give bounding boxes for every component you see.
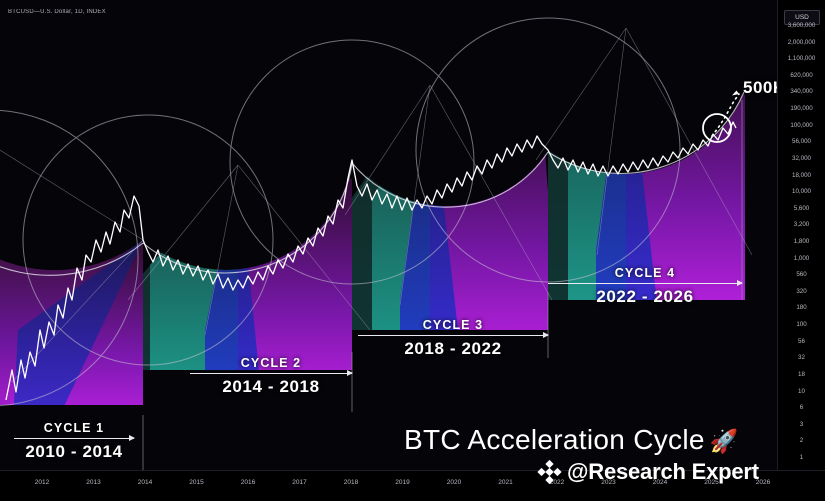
cycle-annotation-3: CYCLE 3 2018 - 2022: [358, 318, 548, 359]
cycle-annotation-4: CYCLE 4 2022 - 2026: [548, 266, 742, 307]
time-tick: 2021: [498, 479, 512, 486]
cycle-annotation-1: CYCLE 1 2010 - 2014: [14, 421, 134, 462]
cycle-3-label: CYCLE 3: [358, 318, 548, 332]
price-tick: 560: [778, 271, 825, 278]
price-tick: 32,000: [778, 155, 825, 162]
cycle-4-arrow: [548, 283, 742, 284]
price-tick: 10: [778, 388, 825, 395]
time-tick: 2016: [241, 479, 255, 486]
price-tick: 18: [778, 371, 825, 378]
chart-screenshot: BTCUSD—U.S. Dollar, 1D, INDEX 500K USD 3…: [0, 0, 825, 501]
watermark-handle: @Research Expert: [567, 459, 759, 485]
price-axis[interactable]: USD 3,600,0002,000,0001,100,000620,00034…: [777, 0, 825, 470]
price-tick: 100: [778, 321, 825, 328]
cycle-1-range: 2010 - 2014: [14, 442, 134, 462]
price-tick: 32: [778, 354, 825, 361]
price-tick: 1,800: [778, 238, 825, 245]
price-tick: 5,600: [778, 205, 825, 212]
cycle-1-arrow: [14, 438, 134, 439]
price-tick: 56: [778, 338, 825, 345]
price-tick: 320: [778, 288, 825, 295]
price-tick: 2: [778, 437, 825, 444]
price-tick: 190,000: [778, 105, 825, 112]
cycle-3-arrow: [358, 335, 548, 336]
chart-title: BTC Acceleration Cycle🚀: [404, 424, 739, 456]
chart-plot-area[interactable]: BTCUSD—U.S. Dollar, 1D, INDEX 500K: [0, 0, 778, 470]
rocket-icon: 🚀: [710, 428, 739, 454]
time-tick: 2014: [138, 479, 152, 486]
price-tick: 56,000: [778, 138, 825, 145]
cycle-1-label: CYCLE 1: [14, 421, 134, 435]
time-tick: 2015: [189, 479, 203, 486]
cycle-2-range: 2014 - 2018: [190, 377, 352, 397]
cycle-2-label: CYCLE 2: [190, 356, 352, 370]
price-tick: 100,000: [778, 122, 825, 129]
ticker-header-label: BTCUSD—U.S. Dollar, 1D, INDEX: [8, 9, 106, 15]
time-tick: 2019: [395, 479, 409, 486]
cycle-3-range: 2018 - 2022: [358, 339, 548, 359]
price-tick: 180: [778, 304, 825, 311]
price-tick: 10,000: [778, 188, 825, 195]
time-tick: 2020: [447, 479, 461, 486]
price-tick: 6: [778, 404, 825, 411]
time-tick: 2018: [344, 479, 358, 486]
projection-arrow-head: [732, 91, 739, 96]
time-tick: 2017: [292, 479, 306, 486]
price-tick: 340,000: [778, 88, 825, 95]
price-tick: 1,000: [778, 255, 825, 262]
price-tick: 18,000: [778, 172, 825, 179]
cycle-1-fan: [0, 120, 143, 440]
price-tick: 2,000,000: [778, 39, 825, 46]
price-tick: 1: [778, 454, 825, 461]
diamond-logo-icon: [536, 459, 562, 485]
price-tick: 620,000: [778, 72, 825, 79]
price-tick: 1,100,000: [778, 55, 825, 62]
watermark: @Research Expert: [536, 459, 759, 485]
cycle-annotation-2: CYCLE 2 2014 - 2018: [190, 356, 352, 397]
time-tick: 2013: [86, 479, 100, 486]
cycle-2-arrow: [190, 373, 352, 374]
price-tick: 3,600,000: [778, 22, 825, 29]
time-tick: 2012: [35, 479, 49, 486]
cycle-4-label: CYCLE 4: [548, 266, 742, 280]
price-tick: 3: [778, 421, 825, 428]
cycle-4-range: 2022 - 2026: [548, 287, 742, 307]
chart-title-text: BTC Acceleration Cycle: [404, 424, 705, 455]
price-tick: 3,200: [778, 221, 825, 228]
